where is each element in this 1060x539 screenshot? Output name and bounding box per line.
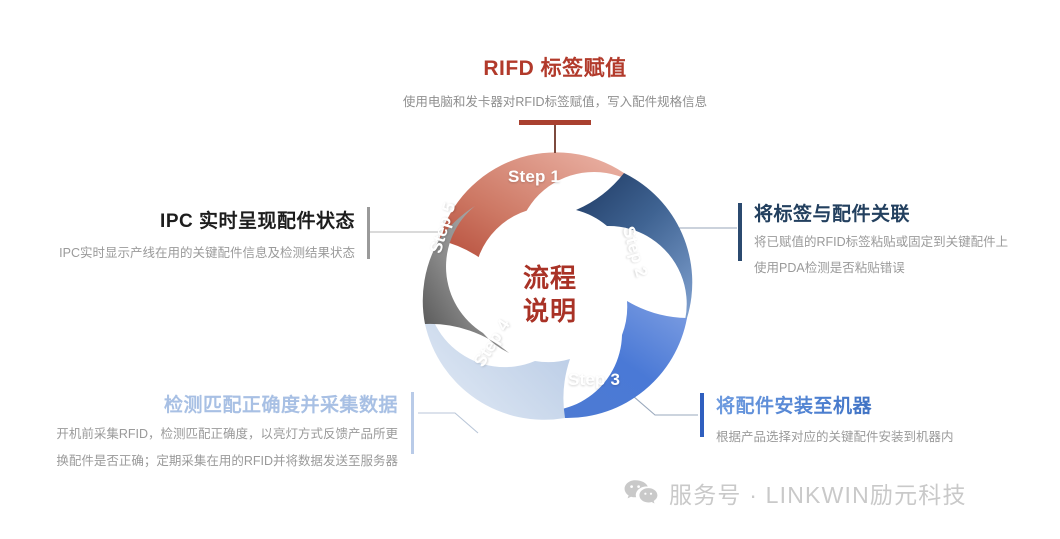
watermark-text: 服务号 · LINKWIN励元科技 xyxy=(669,476,967,510)
callout-step-5-desc: IPC实时显示产线在用的关键配件信息及检测结果状态 xyxy=(10,242,355,261)
callout-step-5-heading: IPC 实时呈现配件状态 xyxy=(10,206,355,233)
callout-step-3-accent-bar xyxy=(700,393,704,437)
step-1-label: Step 1 xyxy=(508,167,560,187)
center-line-1: 流程 xyxy=(496,262,604,295)
callout-step-4-heading: 检测匹配正确度并采集数据 xyxy=(14,390,398,417)
callout-step-2-desc-line-2: 使用PDA检测是否粘贴错误 xyxy=(754,259,1008,278)
wechat-icon xyxy=(624,479,658,507)
callout-step-3-desc: 根据产品选择对应的关键配件安装到机器内 xyxy=(716,426,954,445)
watermark: 服务号 · LINKWIN励元科技 xyxy=(624,476,967,510)
callout-step-4-desc-line-1: 开机前采集RFID，检测匹配正确度，以亮灯方式反馈产品所更 xyxy=(14,424,398,444)
callout-step-1-stem xyxy=(554,125,556,153)
donut-center-text: 流程 说明 xyxy=(496,262,604,329)
callout-step-3: 将配件安装至机器 根据产品选择对应的关键配件安装到机器内 xyxy=(700,391,954,445)
callout-step-5-accent-bar xyxy=(367,207,370,259)
callout-step-3-heading: 将配件安装至机器 xyxy=(716,391,954,418)
callout-step-4-desc-line-2: 换配件是否正确；定期采集在用的RFID并将数据发送至服务器 xyxy=(14,451,398,471)
step-3-label: Step 3 xyxy=(568,370,620,390)
callout-step-2-heading: 将标签与配件关联 xyxy=(754,199,1008,226)
center-line-2: 说明 xyxy=(496,295,604,328)
callout-step-1-desc: 使用电脑和发卡器对RFID标签赋值，写入配件规格信息 xyxy=(330,91,780,110)
callout-step-1: RIFD 标签赋值 使用电脑和发卡器对RFID标签赋值，写入配件规格信息 xyxy=(330,52,780,153)
callout-step-2-accent-bar xyxy=(738,203,742,261)
callout-step-2-desc-line-1: 将已赋值的RFID标签粘贴或固定到关键配件上 xyxy=(754,233,1008,252)
callout-step-4-accent-bar xyxy=(411,392,415,454)
callout-step-5: IPC 实时呈现配件状态 IPC实时显示产线在用的关键配件信息及检测结果状态 xyxy=(10,206,370,261)
callout-step-1-heading: RIFD 标签赋值 xyxy=(330,52,780,82)
diagram-canvas: Step 1 Step 2 Step 3 Step 4 Step 5 流程 说明… xyxy=(0,0,1060,539)
callout-step-4: 检测匹配正确度并采集数据 开机前采集RFID，检测匹配正确度，以亮灯方式反馈产品… xyxy=(14,390,414,471)
callout-step-2: 将标签与配件关联 将已赋值的RFID标签粘贴或固定到关键配件上 使用PDA检测是… xyxy=(738,199,1008,279)
